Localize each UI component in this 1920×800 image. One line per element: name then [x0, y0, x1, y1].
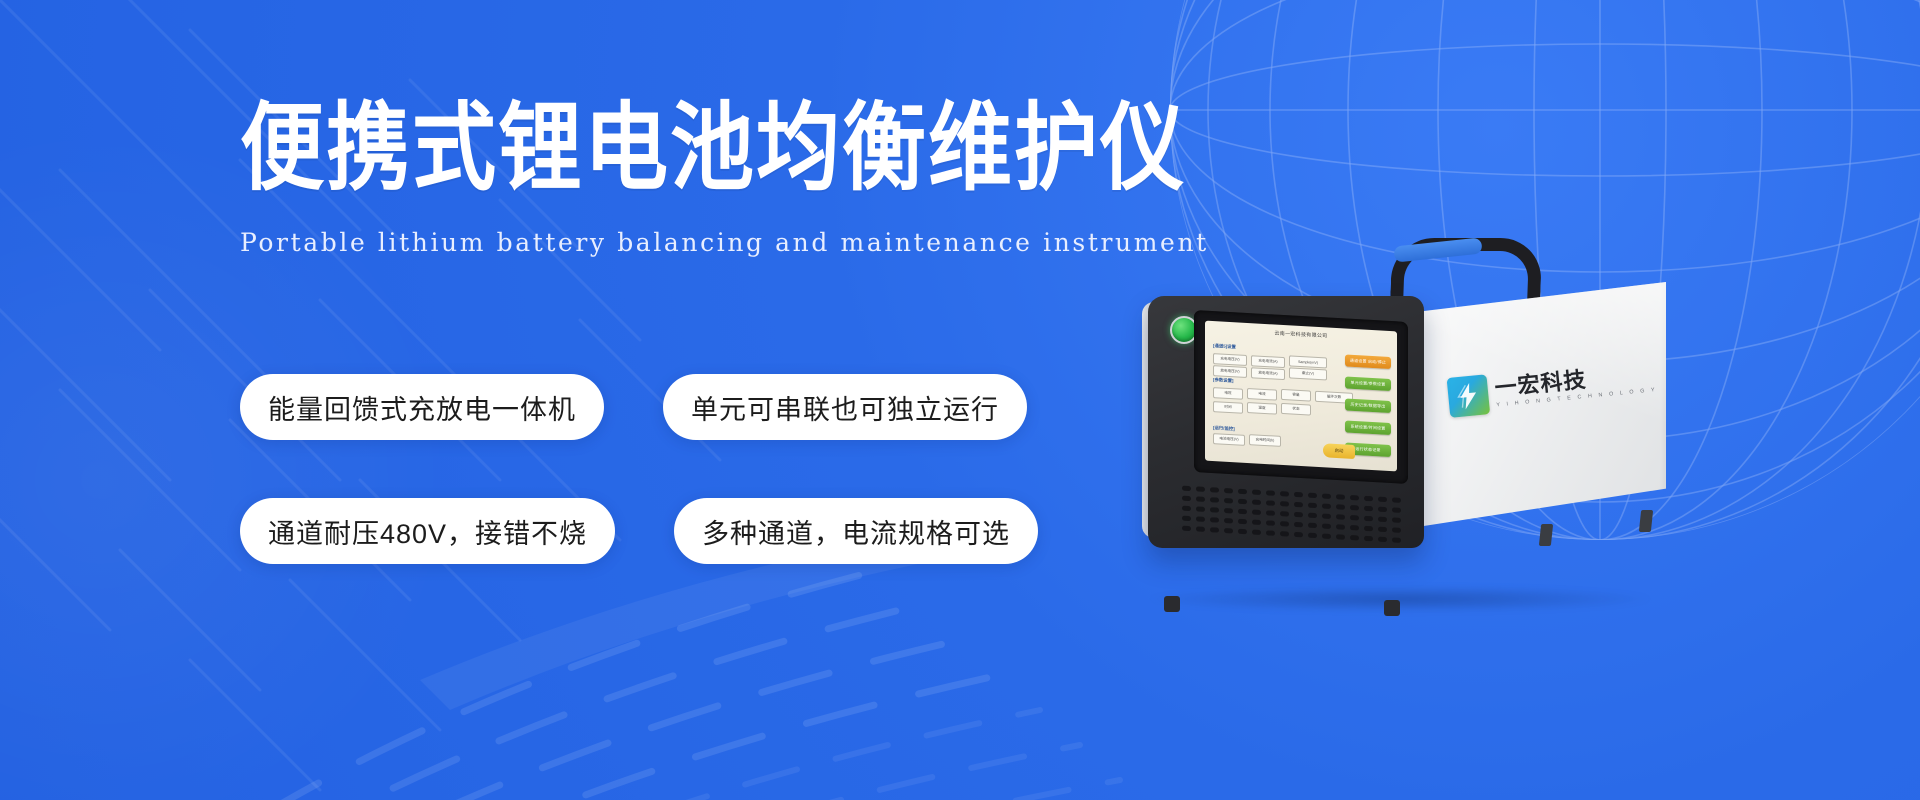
screen-field[interactable]: 状态: [1281, 403, 1311, 416]
device-front-panel: 云南一宏科技有限公司 [通道5]设置 [参数设置] [运行/监控] 充电电压(V…: [1148, 296, 1424, 548]
screen-field[interactable]: 充电电流(A): [1251, 355, 1285, 368]
screen-field[interactable]: 充电电压(V): [1213, 353, 1247, 366]
device-foot: [1164, 596, 1180, 612]
screen-field[interactable]: 截止(V): [1289, 367, 1327, 380]
device-foot: [1384, 600, 1400, 616]
screen-field[interactable]: 温度: [1247, 402, 1277, 415]
screen-field[interactable]: Sample(mV): [1289, 355, 1327, 368]
device-foot: [1639, 510, 1653, 532]
device-touchscreen[interactable]: 云南一宏科技有限公司 [通道5]设置 [参数设置] [运行/监控] 充电电压(V…: [1205, 321, 1397, 472]
feature-pill-list: 能量回馈式充放电一体机 单元可串联也可独立运行 通道耐压480V，接错不烧 多种…: [240, 374, 1140, 564]
screen-field[interactable]: 时间: [1213, 401, 1243, 414]
screen-field[interactable]: 放电电流(A): [1251, 367, 1285, 380]
promo-banner: 便携式锂电池均衡维护仪 Portable lithium battery bal…: [0, 0, 1920, 800]
feature-pill[interactable]: 多种通道，电流规格可选: [674, 498, 1038, 564]
ventilation-grille: [1182, 486, 1410, 555]
screen-field[interactable]: 放电电压(V): [1213, 365, 1247, 378]
screen-field[interactable]: 电池电压(V): [1213, 433, 1245, 446]
screen-field[interactable]: 电压: [1213, 387, 1243, 400]
screen-section-label: [通道5]设置: [1213, 343, 1236, 350]
feature-pill[interactable]: 单元可串联也可独立运行: [663, 374, 1027, 440]
screen-section-label: [运行/监控]: [1213, 425, 1235, 432]
lightning-bolt-icon: [1447, 374, 1491, 418]
bolt-glyph: [1456, 382, 1480, 410]
screen-action-button[interactable]: 单元设置/参数设置: [1345, 376, 1391, 391]
screen-action-button[interactable]: 历史记录/数据导出: [1345, 398, 1391, 413]
screen-start-button[interactable]: 启动: [1323, 443, 1355, 459]
screen-field[interactable]: 充电时间(h): [1249, 434, 1281, 447]
device-foot: [1539, 524, 1553, 546]
screen-bezel: 云南一宏科技有限公司 [通道5]设置 [参数设置] [运行/监控] 充电电压(V…: [1194, 310, 1408, 484]
feature-pill[interactable]: 能量回馈式充放电一体机: [240, 374, 604, 440]
screen-action-button[interactable]: 通道设置 启动/停止: [1345, 354, 1391, 369]
screen-title: 云南一宏科技有限公司: [1205, 326, 1397, 344]
feature-pill[interactable]: 通道耐压480V，接错不烧: [240, 498, 615, 564]
screen-section-label: [参数设置]: [1213, 377, 1234, 384]
hero-copy: 便携式锂电池均衡维护仪 Portable lithium battery bal…: [240, 100, 1120, 257]
page-title: 便携式锂电池均衡维护仪: [240, 100, 1120, 196]
screen-field[interactable]: 容量: [1281, 389, 1311, 402]
product-device-image: 一宏科技 Y I H O N G T E C H N O L O G Y 云南一…: [1148, 238, 1668, 598]
screen-action-button[interactable]: 系统设置/时间设置: [1345, 420, 1391, 435]
screen-field[interactable]: 电流: [1247, 388, 1277, 401]
